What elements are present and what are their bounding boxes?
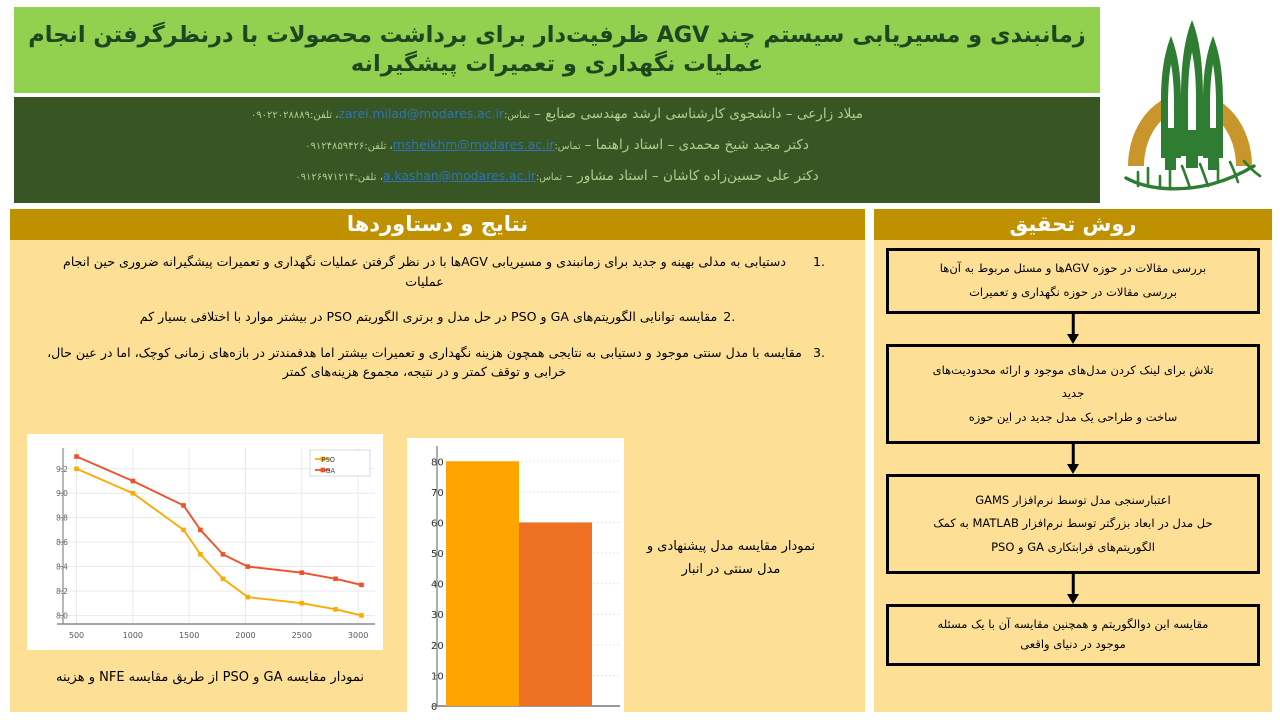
- author-email-1[interactable]: zarei.milad@modares.ac.ir: [339, 106, 505, 122]
- flow-step-1: بررسی مقالات در حوزه AGVها و مسئل مربوط …: [886, 248, 1260, 314]
- university-logo-icon: [1108, 6, 1276, 204]
- flow-step-3-line-2: حل مدل در ابعاد بزرگتر توسط نرم‌افزار MA…: [897, 512, 1249, 536]
- author-phone-2: ۰۹۱۲۴۸۵۹۴۲۶: [305, 141, 364, 152]
- line-chart-legend: PSOGA: [310, 450, 370, 476]
- result-text-3: مقایسه با مدل سنتی موجود و دستیابی به نت…: [42, 343, 807, 382]
- author-name-2: دکتر مجید شیخ محمدی – استاد راهنما –: [585, 137, 809, 153]
- line-chart-svg: 8.08.28.48.68.89.09.2 500100015002000250…: [27, 434, 383, 650]
- panel-results-title: نتایج و دستاوردها: [10, 209, 865, 240]
- contact-label-2: تماس:: [555, 141, 581, 152]
- poster-root: زمانبندی و مسیریابی سیستم چند AGV ظرفیت‌…: [0, 0, 1280, 720]
- page-title: زمانبندی و مسیریابی سیستم چند AGV ظرفیت‌…: [28, 21, 1085, 80]
- flow-arrow-2-icon: [886, 444, 1260, 474]
- panel-results: نتایج و دستاوردها 1. دستیابی به مدلی بهی…: [10, 209, 865, 712]
- result-number-3: 3.: [807, 343, 833, 363]
- list-item: 3. مقایسه با مدل سنتی موجود و دستیابی به…: [42, 343, 833, 382]
- author-email-2[interactable]: msheikhm@modares.ac.ir: [393, 137, 555, 153]
- author-name-1: میلاد زارعی – دانشجوی کارشناسی ارشد مهند…: [534, 106, 863, 122]
- flow-arrow-1-icon: [886, 314, 1260, 344]
- panel-method-body: بررسی مقالات در حوزه AGVها و مسئل مربوط …: [874, 240, 1272, 712]
- flow-step-2-line-2: جدید: [897, 382, 1249, 406]
- result-text-1: دستیابی به مدلی بهینه و جدید برای زمانبن…: [42, 252, 807, 291]
- author-phone-3: ۰۹۱۲۶۹۷۱۲۱۴: [295, 172, 354, 183]
- svg-text:8.0: 8.0: [56, 611, 68, 620]
- svg-text:1000: 1000: [123, 631, 143, 640]
- panel-method-title: روش تحقیق: [874, 209, 1272, 240]
- flow-arrow-3-icon: [886, 574, 1260, 604]
- svg-text:3000: 3000: [348, 631, 368, 640]
- list-item: 1. دستیابی به مدلی بهینه و جدید برای زما…: [42, 252, 833, 291]
- author-phone-1: ۰۹۰۲۲۰۲۸۸۸۹: [251, 110, 310, 121]
- phone-label-2: ، تلفن:: [364, 141, 393, 152]
- contact-label-1: تماس:: [504, 110, 530, 121]
- phone-label-3: ، تلفن:: [354, 172, 383, 183]
- flow-step-3: اعتبارسنجی مدل توسط نرم‌افزار GAMS حل مد…: [886, 474, 1260, 574]
- author-row-1: میلاد زارعی – دانشجوی کارشناسی ارشد مهند…: [28, 106, 1086, 123]
- contact-label-3: تماس:: [536, 172, 562, 183]
- result-text-2: مقایسه توانایی الگوریتم‌های GA و PSO در …: [140, 307, 717, 327]
- svg-text:GA: GA: [325, 467, 335, 475]
- flow-step-2: تلاش برای لینک کردن مدل‌های موجود و ارائ…: [886, 344, 1260, 444]
- svg-text:2500: 2500: [292, 631, 312, 640]
- result-number-1: 1.: [807, 252, 833, 272]
- flow-step-3-line-3: الگوریتم‌های فرابتکاری GA و PSO: [897, 536, 1249, 560]
- svg-text:1500: 1500: [179, 631, 199, 640]
- flow-step-4-line-2: موجود در دنیای واقعی: [897, 635, 1249, 655]
- svg-text:PSO: PSO: [322, 456, 335, 464]
- flow-step-1-line-1: بررسی مقالات در حوزه AGVها و مسئل مربوط …: [897, 257, 1249, 281]
- bar-chart: 01020304050607080: [407, 438, 624, 716]
- bar-chart-svg: 01020304050607080: [407, 438, 624, 716]
- panel-research-method: روش تحقیق بررسی مقالات در حوزه AGVها و م…: [874, 209, 1272, 712]
- author-name-3: دکتر علی حسین‌زاده کاشان – استاد مشاور –: [566, 168, 819, 184]
- author-email-3[interactable]: a.kashan@modares.ac.ir: [383, 168, 536, 184]
- flow-step-4: مقایسه این دوالگوریتم و همچنین مقایسه آن…: [886, 604, 1260, 666]
- bar-chart-caption: نمودار مقایسه مدل پیشنهادی و مدل سنتی در…: [646, 536, 816, 582]
- flow-step-4-line-1: مقایسه این دوالگوریتم و همچنین مقایسه آن…: [897, 615, 1249, 635]
- title-line-1: زمانبندی و مسیریابی سیستم چند AGV ظرفیت‌…: [28, 22, 1085, 48]
- author-row-3: دکتر علی حسین‌زاده کاشان – استاد مشاور –…: [28, 168, 1086, 185]
- svg-text:2000: 2000: [235, 631, 255, 640]
- svg-text:8.8: 8.8: [56, 514, 68, 523]
- flow-step-1-line-2: بررسی مقالات در حوزه نگهداری و تعمیرات: [897, 281, 1249, 305]
- flow-step-2-line-3: ساخت و طراحی یک مدل جدید در این حوزه: [897, 406, 1249, 430]
- result-number-2: 2.: [717, 307, 735, 327]
- panel-results-body: 1. دستیابی به مدلی بهینه و جدید برای زما…: [10, 240, 865, 712]
- svg-text:9.0: 9.0: [56, 489, 68, 498]
- results-list: 1. دستیابی به مدلی بهینه و جدید برای زما…: [18, 250, 857, 382]
- line-chart-caption: نمودار مقایسه GA و PSO از طریق مقایسه NF…: [50, 667, 370, 690]
- university-logo: [1108, 6, 1276, 204]
- line-chart: 8.08.28.48.68.89.09.2 500100015002000250…: [27, 434, 383, 650]
- authors-band: میلاد زارعی – دانشجوی کارشناسی ارشد مهند…: [14, 97, 1100, 203]
- poster-title-band: زمانبندی و مسیریابی سیستم چند AGV ظرفیت‌…: [14, 7, 1100, 93]
- author-row-2: دکتر مجید شیخ محمدی – استاد راهنما – تما…: [28, 137, 1086, 154]
- phone-label-1: ، تلفن:: [310, 110, 339, 121]
- flow-step-3-line-1: اعتبارسنجی مدل توسط نرم‌افزار GAMS: [897, 489, 1249, 513]
- list-item: 2. مقایسه توانایی الگوریتم‌های GA و PSO …: [42, 307, 833, 327]
- svg-text:500: 500: [69, 631, 84, 640]
- title-line-2: عملیات نگهداری و تعمیرات پیشگیرانه: [351, 51, 763, 77]
- flow-step-2-line-1: تلاش برای لینک کردن مدل‌های موجود و ارائ…: [897, 359, 1249, 383]
